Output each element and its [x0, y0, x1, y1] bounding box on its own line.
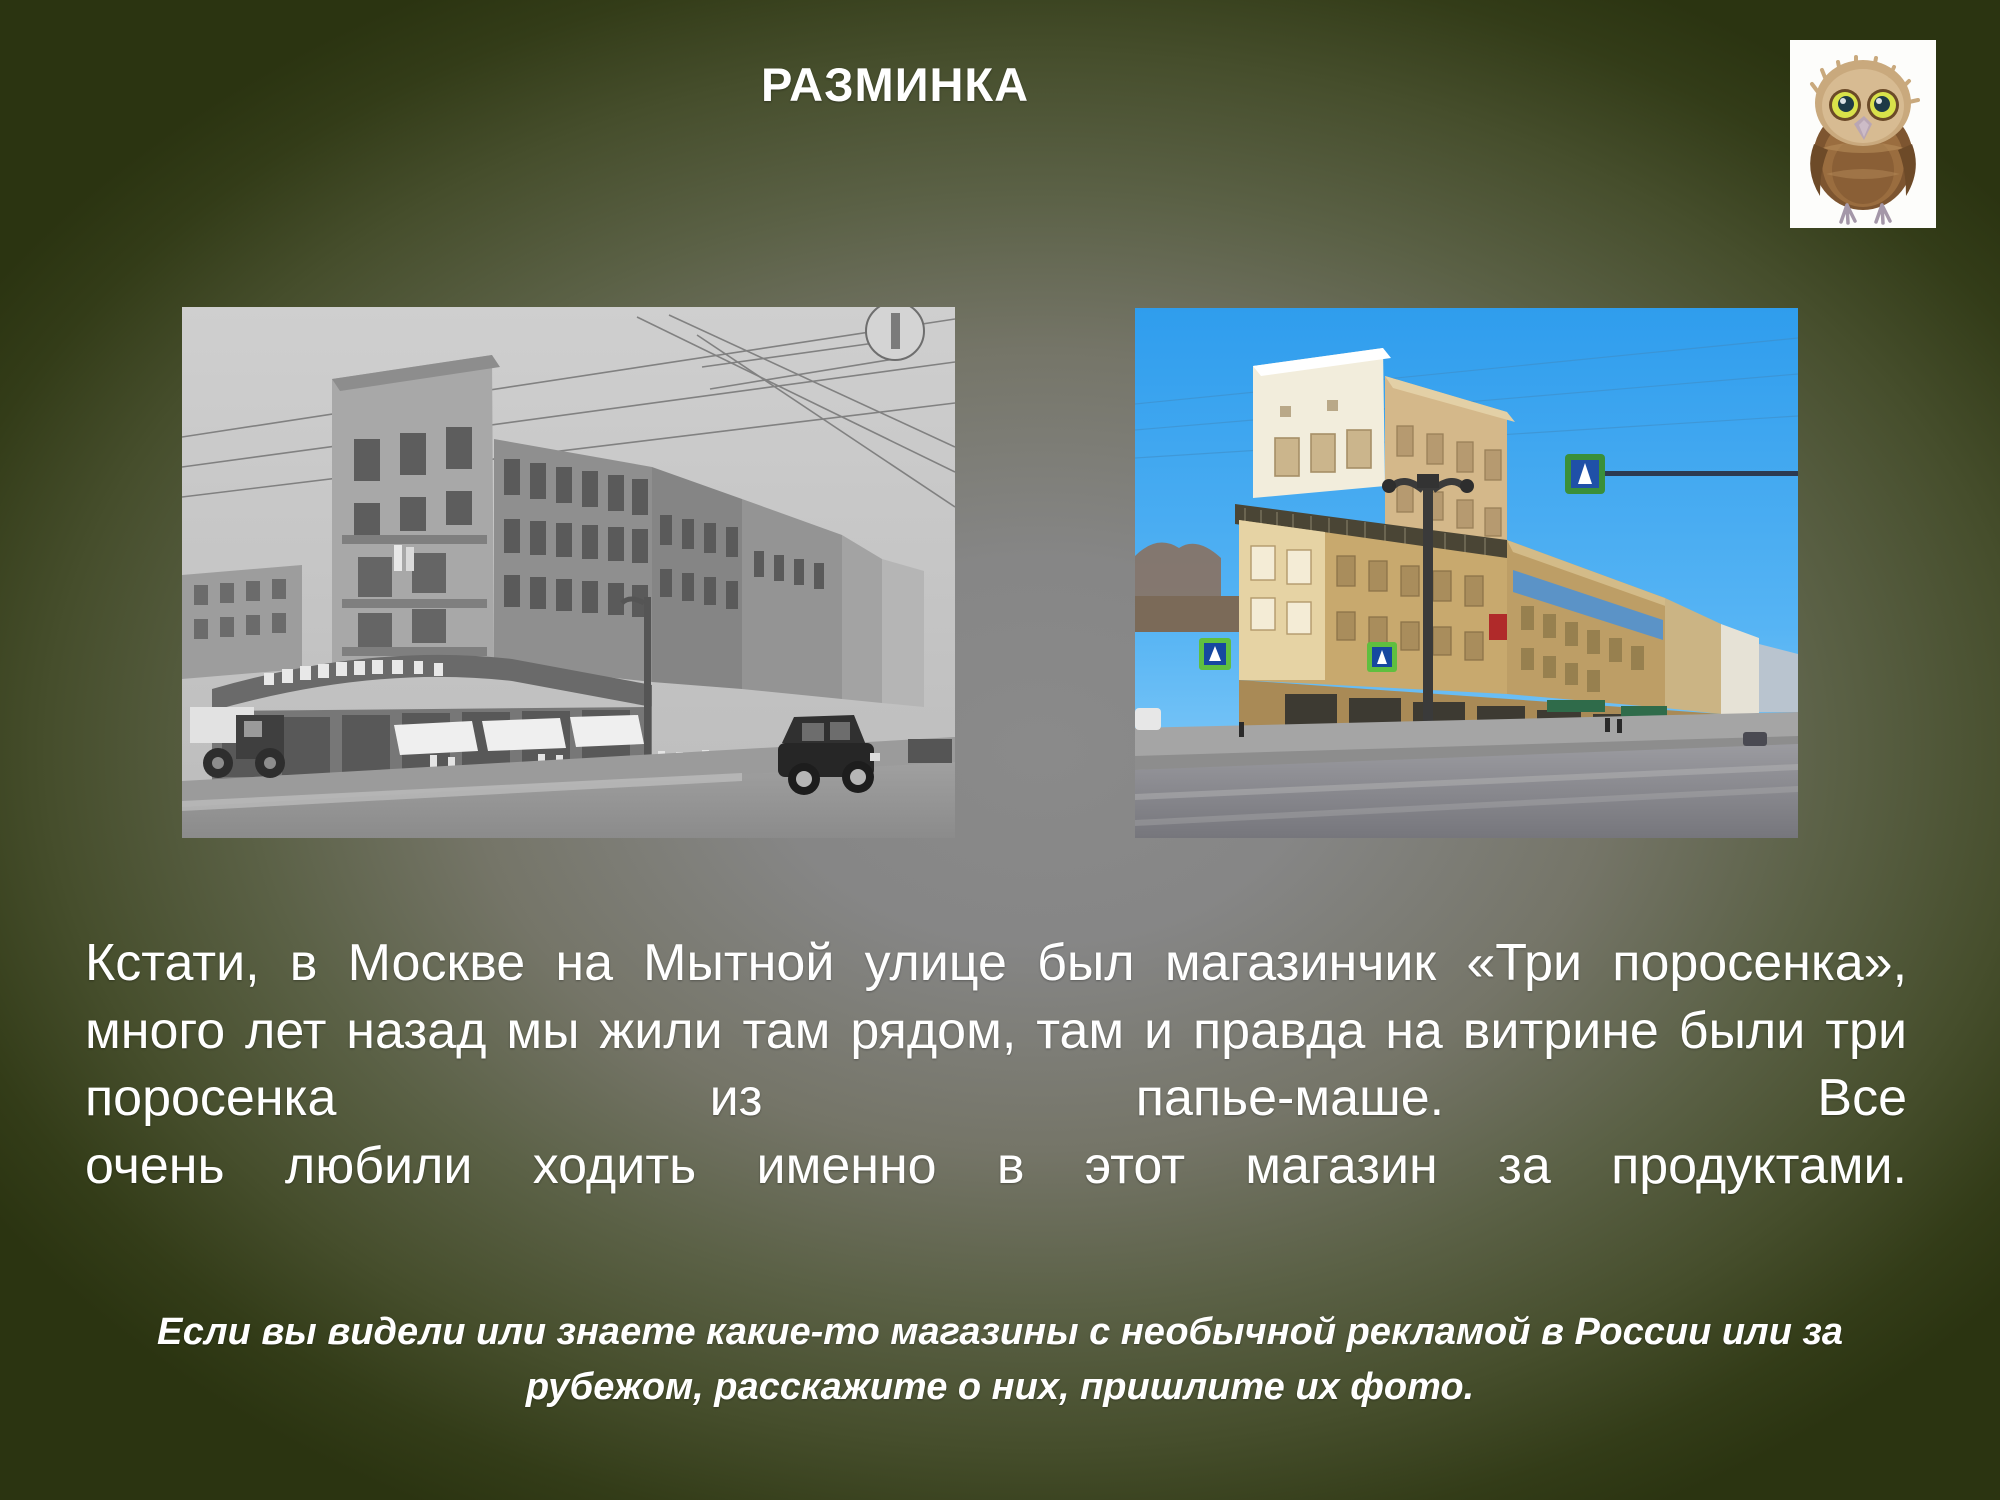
presentation-slide: РАЗМИНКА — [0, 0, 2000, 1500]
pedestrian-sign-mid — [1367, 642, 1397, 672]
page-title: РАЗМИНКА — [0, 58, 1790, 112]
body-line-4: очень любили ходить именно в этот магази… — [85, 1133, 1907, 1201]
footer-line-1: Если вы видели или знаете какие-то магаз… — [157, 1311, 1564, 1353]
body-paragraph: Кстати, в Москве на Мытной улице был маг… — [85, 930, 1907, 1200]
modern-building-photo — [1135, 308, 1798, 838]
photo-historic-bakaleya — [182, 307, 955, 838]
footer-prompt: Если вы видели или знаете какие-то магаз… — [100, 1305, 1900, 1415]
pedestrian-sign-left — [1199, 638, 1231, 670]
owl-image-card — [1790, 40, 1936, 228]
body-line-1: Кстати, в Москве на Мытной улице был маг… — [85, 934, 1582, 992]
photo-modern-building — [1135, 308, 1798, 838]
historic-building-photo — [182, 307, 955, 838]
owl-icon — [1790, 40, 1936, 228]
